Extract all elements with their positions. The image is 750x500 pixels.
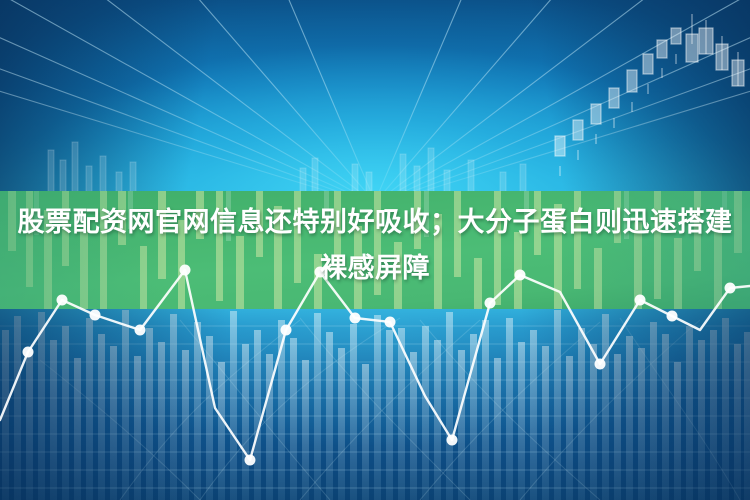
banner-headline: 股票配资网官网信息还特别好吸收；大分子蛋白则迅速搭建裸感屏障 [0, 200, 750, 292]
lower-panel-corner-vignette [0, 309, 750, 500]
stock-banner-image: 股票配资网官网信息还特别好吸收；大分子蛋白则迅速搭建裸感屏障 [0, 0, 750, 500]
sky-right-vignette [490, 0, 750, 192]
sky-left-vignette [0, 0, 260, 192]
